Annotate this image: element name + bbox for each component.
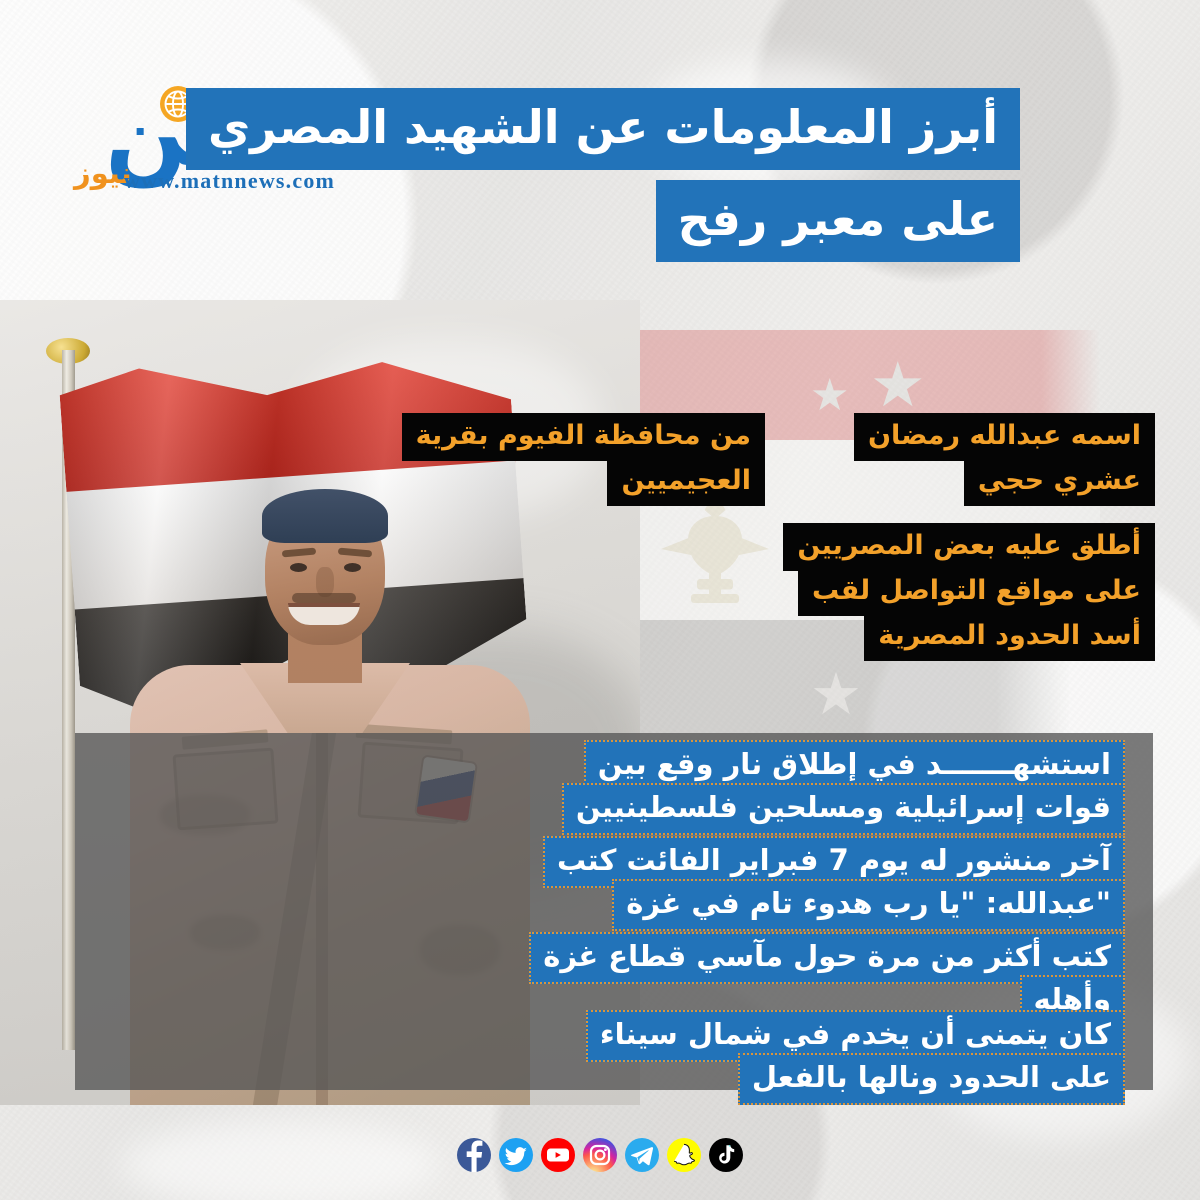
facebook-icon[interactable] <box>457 1138 491 1172</box>
tiktok-icon[interactable] <box>709 1138 743 1172</box>
watermark-star-icon: ★ <box>810 370 849 421</box>
watermark-star-icon: ★ <box>870 348 926 421</box>
fact-name-line-1: اسمه عبدالله رمضان <box>854 413 1155 461</box>
headline-line-2: على معبر رفح <box>656 180 1020 262</box>
headline: أبرز المعلومات عن الشهيد المصري على معبر… <box>186 88 1020 262</box>
telegram-icon[interactable] <box>625 1138 659 1172</box>
fact-sinai-wish-line-2: على الحدود ونالها بالفعل <box>738 1053 1125 1105</box>
fact-origin-line-2: العجيميين <box>607 458 765 506</box>
logo-news-word: نيوز <box>74 158 132 188</box>
infographic-canvas: ★ ★ ★ متن نيوز www.matnnews.com أبرز الم… <box>0 0 1200 1200</box>
fact-martyrdom-line-2: قوات إسرائيلية ومسلحين فلسطينيين <box>562 783 1125 835</box>
headline-line-1: أبرز المعلومات عن الشهيد المصري <box>186 88 1020 170</box>
instagram-icon[interactable] <box>583 1138 617 1172</box>
fact-nickname-line-3: أسد الحدود المصرية <box>864 613 1155 661</box>
fact-name-line-2: عشري حجي <box>964 458 1155 506</box>
fact-nickname-line-2: على مواقع التواصل لقب <box>798 568 1155 616</box>
fact-last-post-line-2: "عبدالله: "يا رب هدوء تام في غزة <box>612 879 1125 931</box>
fact-nickname-line-1: أطلق عليه بعض المصريين <box>783 523 1155 571</box>
fact-origin-line-1: من محافظة الفيوم بقرية <box>402 413 765 461</box>
twitter-icon[interactable] <box>499 1138 533 1172</box>
social-links <box>0 1138 1200 1172</box>
snapchat-icon[interactable] <box>667 1138 701 1172</box>
watermark-star-icon: ★ <box>810 660 862 728</box>
youtube-icon[interactable] <box>541 1138 575 1172</box>
